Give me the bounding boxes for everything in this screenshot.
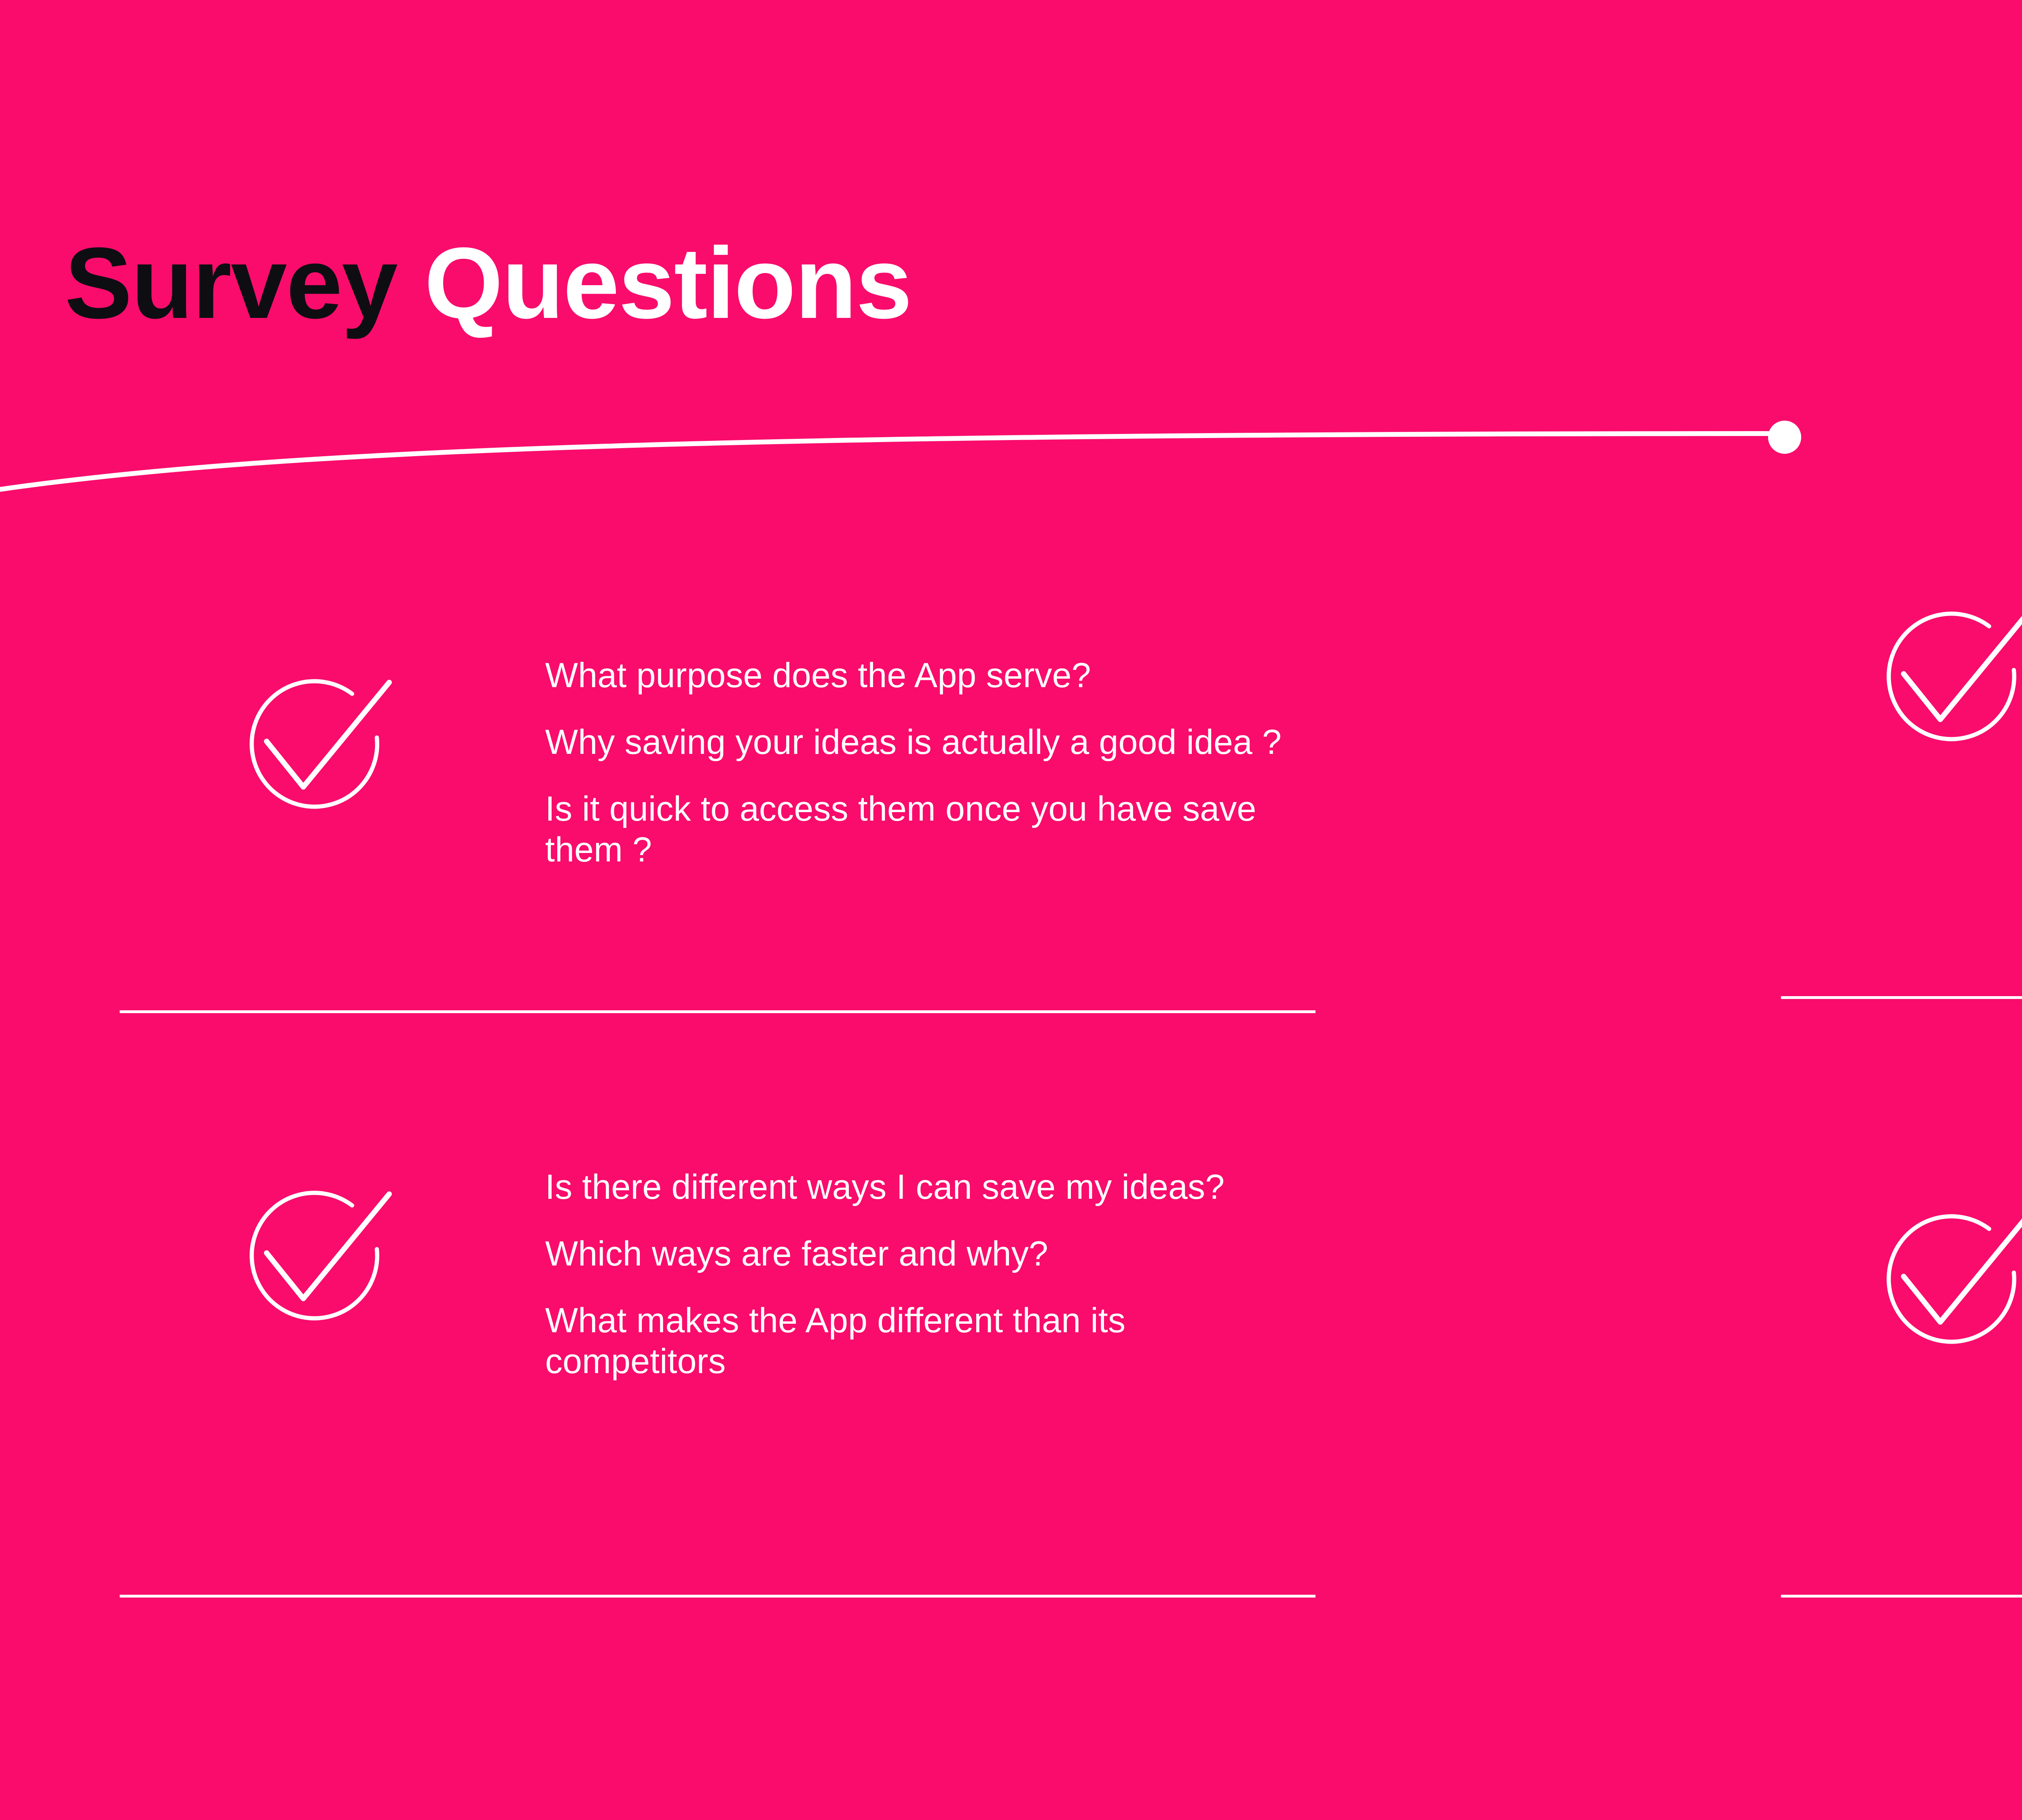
title-part-light: Questions	[424, 226, 911, 339]
question-item: Why saving your ideas is actually a good…	[545, 722, 1313, 763]
check-circle-icon	[1851, 582, 2022, 772]
group-separator-line	[120, 1595, 1316, 1598]
group-separator-line	[120, 1010, 1316, 1013]
title-part-dark: Survey	[65, 226, 424, 339]
slide-canvas: Survey Questions What purpose does the A…	[0, 0, 2022, 1820]
page-title: Survey Questions	[65, 233, 912, 334]
check-circle-icon	[1851, 1184, 2022, 1374]
question-item: What makes the App different than its co…	[545, 1300, 1313, 1382]
check-circle-icon	[214, 1161, 404, 1351]
question-item: Which ways are faster and why?	[545, 1234, 1313, 1274]
group-separator-line	[1781, 996, 2022, 999]
group-separator-line	[1781, 1595, 2022, 1598]
title-underline-dot-icon	[1768, 421, 1801, 454]
check-circle-icon	[214, 649, 404, 839]
question-item: Is it quick to access them once you have…	[545, 789, 1313, 870]
question-list: Is there different ways I can save my id…	[545, 1167, 1313, 1382]
question-item: Is there different ways I can save my id…	[545, 1167, 1313, 1208]
question-item: What purpose does the App serve?	[545, 655, 1313, 696]
title-underline-swoosh	[0, 388, 1812, 493]
question-list: What purpose does the App serve? Why sav…	[545, 655, 1313, 870]
